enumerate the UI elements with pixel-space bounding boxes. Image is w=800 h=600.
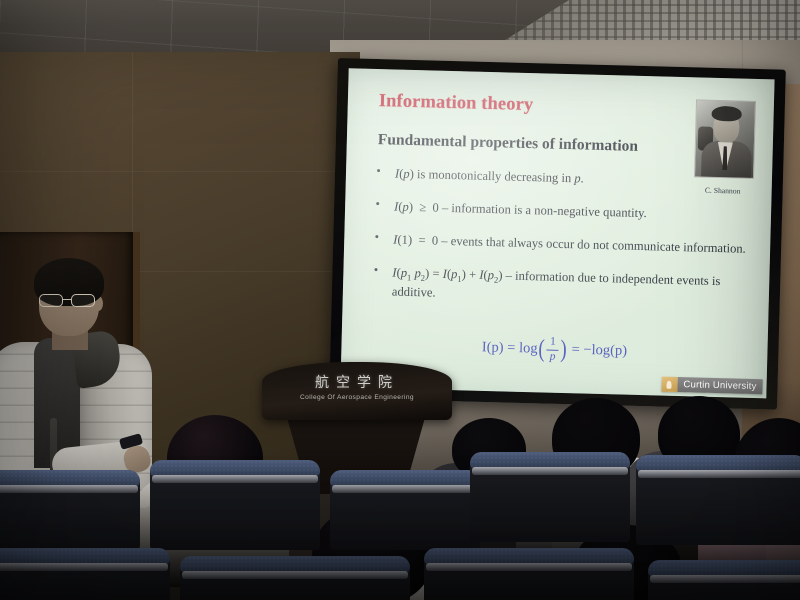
bullet-dot-icon [374, 268, 377, 271]
formula-lhs: I(p) [482, 339, 504, 356]
seat-front-a[interactable] [0, 548, 170, 600]
bullet-text-1: I(p) is monotonically decreasing in p. [395, 167, 584, 186]
formula-log-2: log(p) [591, 342, 627, 359]
seat-metal-rail [650, 575, 800, 583]
podium-english-label: College Of Aerospace Engineering [262, 394, 452, 401]
slide-subtitle: Fundamental properties of information [378, 131, 639, 156]
formula-denominator: p [547, 349, 559, 363]
seat-metal-rail [0, 485, 138, 493]
seat-row1-right[interactable] [330, 470, 480, 550]
formula-numerator: 1 [547, 337, 559, 350]
seat-metal-rail [182, 571, 408, 579]
bullet-text-3: I(1) = 0 – events that always occur do n… [393, 233, 746, 256]
bullet-text-2: I(p) ≥ 0 – information is a non-negative… [394, 200, 647, 221]
podium-chinese-label: 航空学院 [262, 372, 452, 392]
formula-fraction: 1p [547, 337, 559, 363]
curtin-university-logo: Curtin University [661, 377, 762, 395]
slide-title: Information theory [379, 91, 534, 116]
seat-front-b[interactable] [180, 556, 410, 600]
seat-metal-rail [152, 475, 318, 483]
bullet-item-4: I(p1 p2) = I(p1) + I(p2) – information d… [370, 264, 756, 309]
seat-metal-rail [0, 563, 168, 571]
projection-screen: Information theory Fundamental propertie… [329, 58, 786, 410]
bullet-dot-icon [377, 169, 380, 172]
curtin-logo-text: Curtin University [677, 377, 762, 394]
seat-row2-right[interactable] [636, 455, 800, 545]
seat-metal-rail [426, 563, 632, 571]
formula-log-1: log [519, 340, 538, 356]
formula-paren-close: ) [560, 336, 567, 364]
seat-front-c[interactable] [424, 548, 634, 600]
formula-paren-open: ( [538, 335, 545, 363]
seat-row1-mid[interactable] [150, 460, 320, 550]
shannon-hair [711, 106, 741, 122]
seat-metal-rail [472, 467, 628, 475]
bullet-dot-icon [376, 202, 379, 205]
bullet-item-3: I(1) = 0 – events that always occur do n… [371, 231, 756, 257]
seat-row1-left[interactable] [0, 470, 140, 550]
speaker-glasses-icon [38, 294, 100, 307]
presentation-slide: Information theory Fundamental propertie… [340, 68, 774, 398]
bullet-text-4: I(p1 p2) = I(p1) + I(p2) – information d… [392, 266, 721, 300]
podium-front-panel: 航空学院 College Of Aerospace Engineering [262, 362, 452, 420]
formula-equals-2: = [571, 342, 580, 358]
seat-front-d[interactable] [648, 560, 800, 600]
lecture-hall-photo: Information theory Fundamental propertie… [0, 0, 800, 600]
seat-metal-rail [332, 485, 478, 493]
seat-row2-left[interactable] [470, 452, 630, 542]
seat-metal-rail [638, 470, 800, 478]
bullet-dot-icon [375, 235, 378, 238]
formula-equals-1: = [507, 340, 516, 356]
shannon-caption: C. Shannon [694, 185, 752, 196]
shannon-portrait-image [694, 99, 756, 179]
bullet-item-2: I(p) ≥ 0 – information is a non-negative… [372, 198, 757, 224]
curtin-logo-mark-icon [661, 377, 677, 392]
